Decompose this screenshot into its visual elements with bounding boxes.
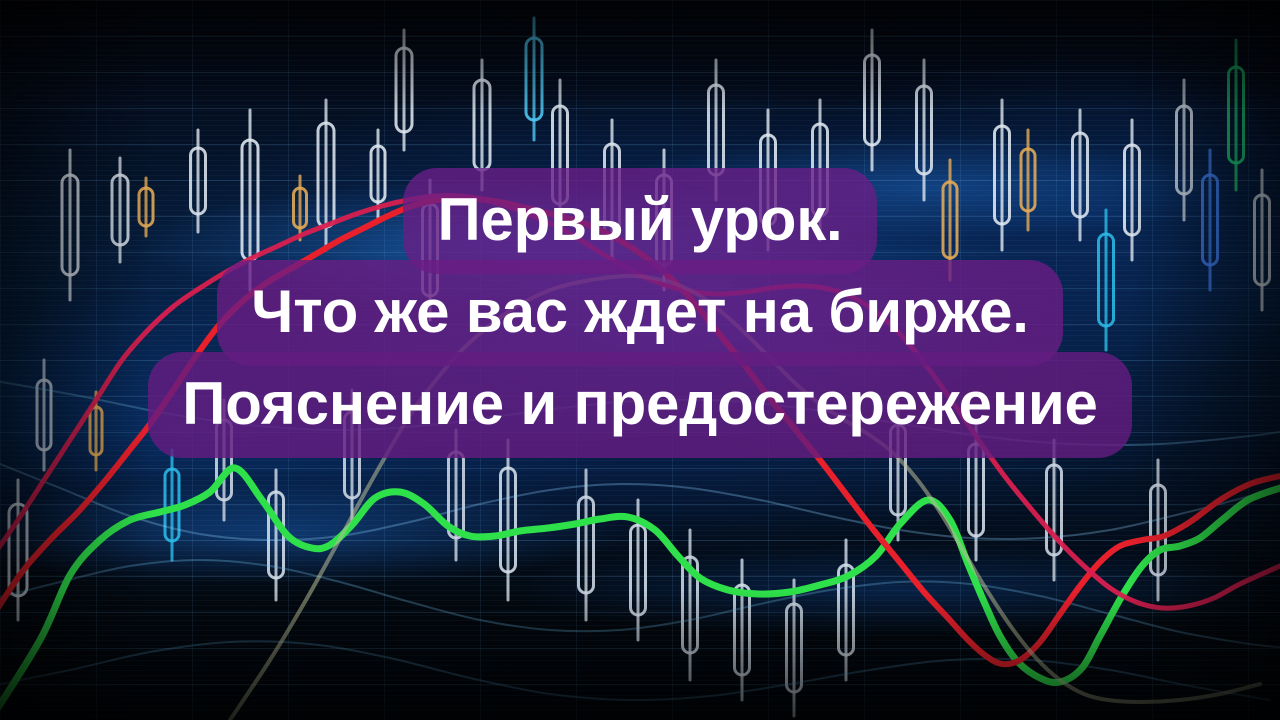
title-card-slide: Первый урок. Что же вас ждет на бирже. П… — [0, 0, 1280, 720]
title-line-2: Что же вас ждет на бирже. — [217, 260, 1063, 366]
title-line-1: Первый урок. — [403, 168, 876, 274]
title-block: Первый урок. Что же вас ждет на бирже. П… — [0, 168, 1280, 458]
title-line-3: Пояснение и предостережение — [148, 352, 1131, 458]
